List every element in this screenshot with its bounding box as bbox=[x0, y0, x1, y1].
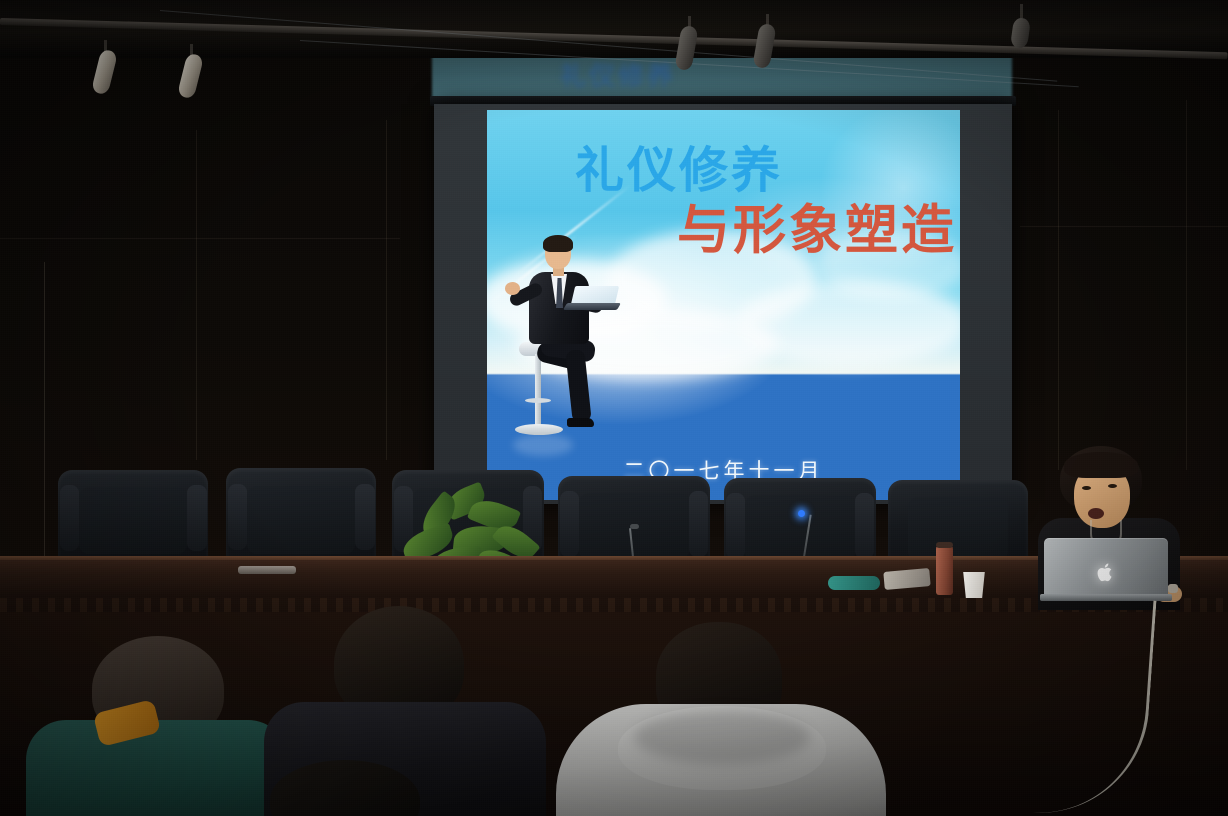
thermos-cap bbox=[936, 542, 953, 548]
thermos-bottle bbox=[936, 545, 953, 595]
macbook-laptop[interactable] bbox=[1040, 538, 1172, 602]
presenter-mouth bbox=[1088, 508, 1104, 519]
attendee-hood-shadow bbox=[634, 710, 810, 764]
teal-desk-item bbox=[828, 576, 880, 590]
figure-laptop bbox=[565, 286, 617, 312]
figure-reflection bbox=[513, 434, 573, 456]
chair-armrest bbox=[228, 484, 248, 551]
chair-armrest bbox=[689, 491, 709, 556]
slide-businessman-figure bbox=[507, 238, 607, 453]
chair-1 bbox=[58, 470, 208, 566]
attendee-back-row bbox=[240, 760, 540, 816]
chair-cushion bbox=[79, 487, 187, 554]
presentation-slide: 礼仪修养 与形象塑造 二〇一七年十一月 bbox=[487, 110, 960, 500]
chair-armrest bbox=[187, 485, 207, 550]
stool-footrest bbox=[525, 398, 551, 403]
chair-armrest bbox=[60, 485, 80, 550]
wall-seam bbox=[1186, 100, 1187, 470]
slide-title-line-1: 礼仪修养 bbox=[575, 146, 783, 195]
chair-armrest bbox=[855, 493, 875, 558]
microphone-head bbox=[630, 524, 639, 529]
slide-title-line-2: 与形象塑造 bbox=[677, 204, 957, 257]
paper-cup bbox=[962, 572, 986, 598]
wall-seam bbox=[1058, 110, 1059, 470]
presenter-eye bbox=[1108, 484, 1117, 488]
wall-seam bbox=[0, 238, 400, 239]
slide-date: 二〇一七年十一月 bbox=[487, 455, 960, 485]
attendee-gray-hoodie bbox=[556, 622, 886, 816]
chair-armrest bbox=[560, 491, 580, 556]
figure-hand bbox=[505, 282, 520, 295]
apple-logo-icon bbox=[1096, 562, 1115, 583]
figure-hair bbox=[543, 235, 573, 252]
attendee-head bbox=[270, 760, 420, 816]
stool-post bbox=[535, 354, 541, 428]
chair-armrest bbox=[726, 493, 746, 558]
remote-control[interactable] bbox=[238, 566, 296, 574]
wall-seam bbox=[386, 120, 387, 460]
photo-scene: 礼仪修养 bbox=[0, 0, 1228, 816]
wall-seam bbox=[196, 130, 197, 460]
presenter-fringe bbox=[1064, 452, 1138, 478]
presenter-eye bbox=[1082, 486, 1091, 490]
figure-shoe bbox=[567, 418, 594, 427]
chair-cushion bbox=[745, 495, 854, 562]
microphone-led bbox=[798, 510, 805, 517]
chair-armrest bbox=[355, 484, 375, 551]
wall-seam bbox=[1020, 226, 1228, 227]
figure-laptop-base bbox=[563, 303, 621, 310]
chair-2 bbox=[226, 468, 376, 566]
chair-cushion bbox=[247, 486, 355, 555]
chair-cushion bbox=[908, 497, 1009, 561]
wall-pole bbox=[44, 262, 45, 562]
